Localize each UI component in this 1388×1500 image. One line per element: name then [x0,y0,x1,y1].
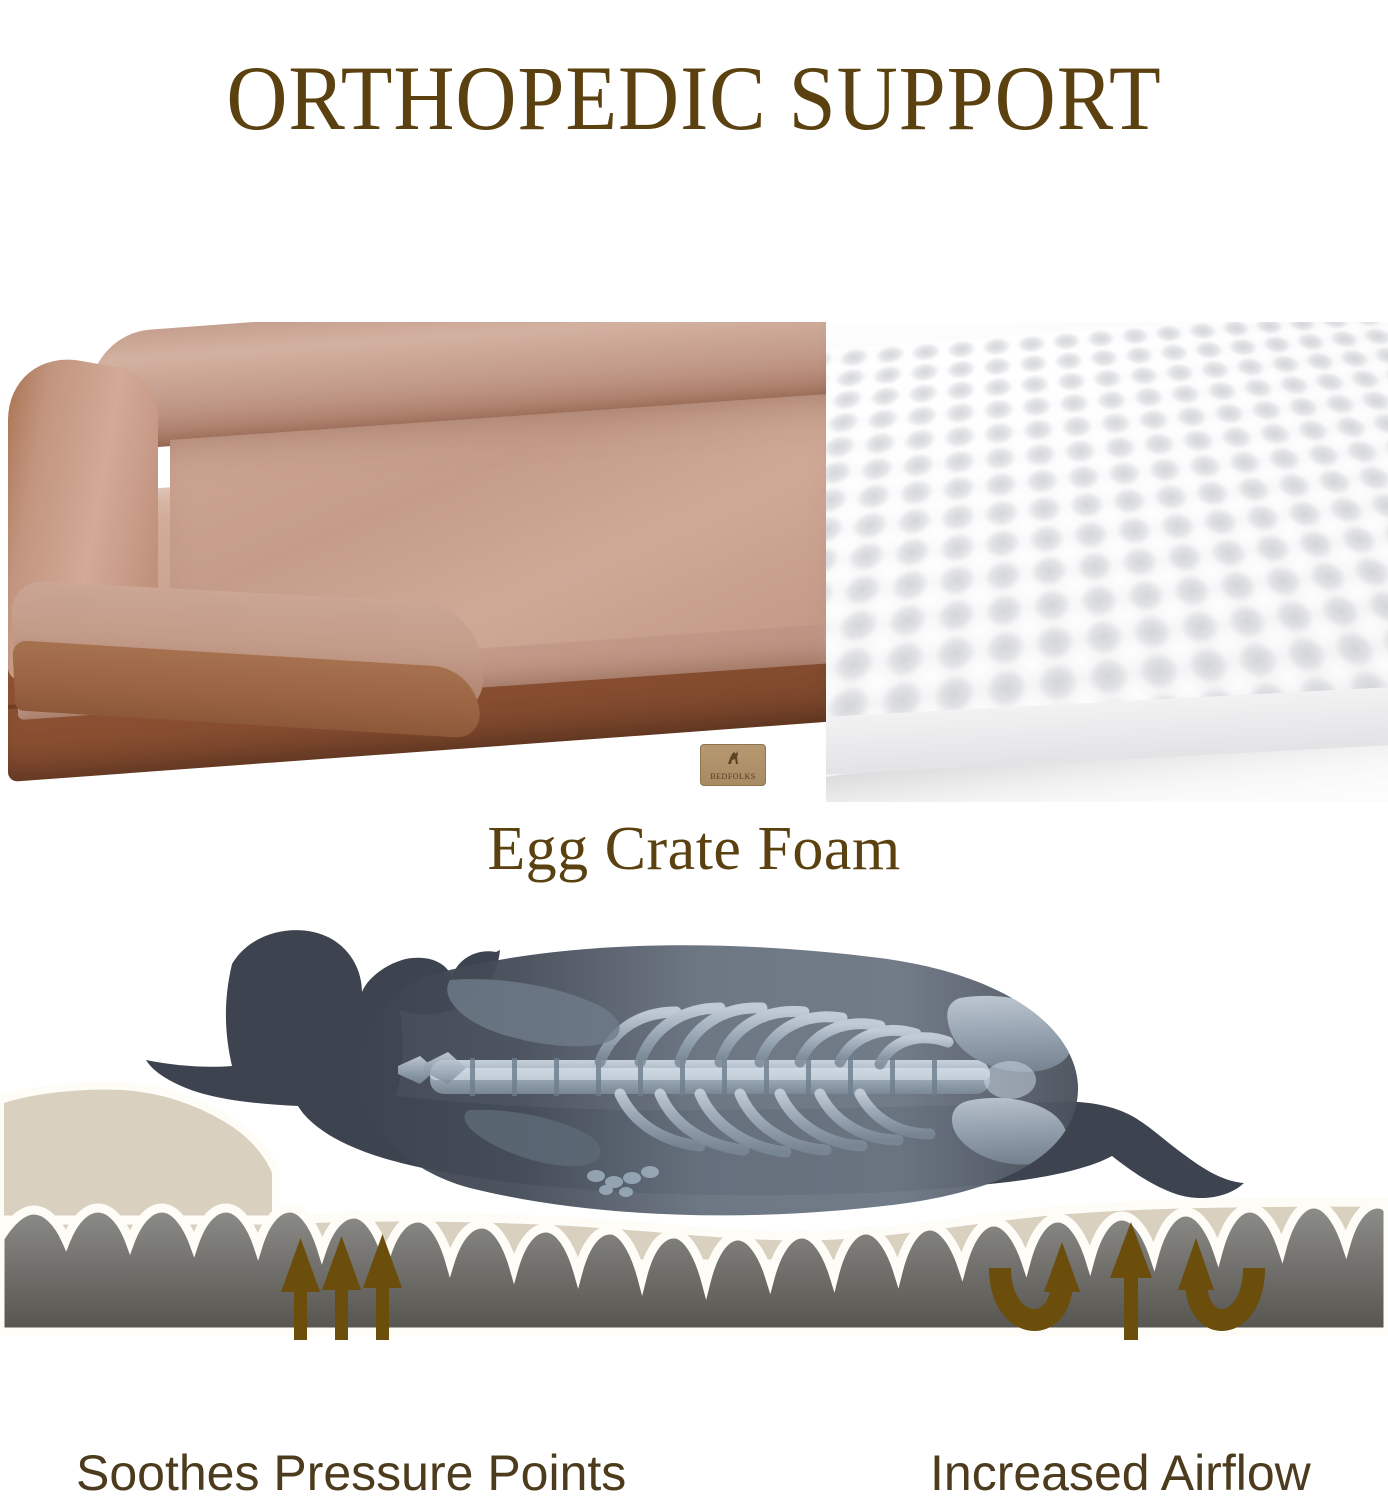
dog-figure-icon [725,749,741,767]
pressure-arrows [281,1234,402,1340]
dog-silhouette [146,930,1244,1215]
label-increased-airflow: Increased Airflow [930,1444,1311,1500]
label-soothes-pressure-points: Soothes Pressure Points [76,1444,626,1500]
cross-section-diagram [0,920,1388,1340]
brand-tag: BEDFOLKS [700,744,766,786]
infographic-page: ORTHOPEDIC SUPPORT BEDFOLKS Egg Crate Fo… [0,0,1388,1500]
egg-crate-foam-photo [826,322,1388,802]
brand-tag-text: BEDFOLKS [710,772,755,781]
dog-bed-photo [0,322,826,802]
hero-product-row [0,322,1388,802]
page-title: ORTHOPEDIC SUPPORT [56,52,1333,144]
egg-crate-foam-caption: Egg Crate Foam [0,814,1388,885]
egg-crate-foam-layer [0,1204,1388,1332]
